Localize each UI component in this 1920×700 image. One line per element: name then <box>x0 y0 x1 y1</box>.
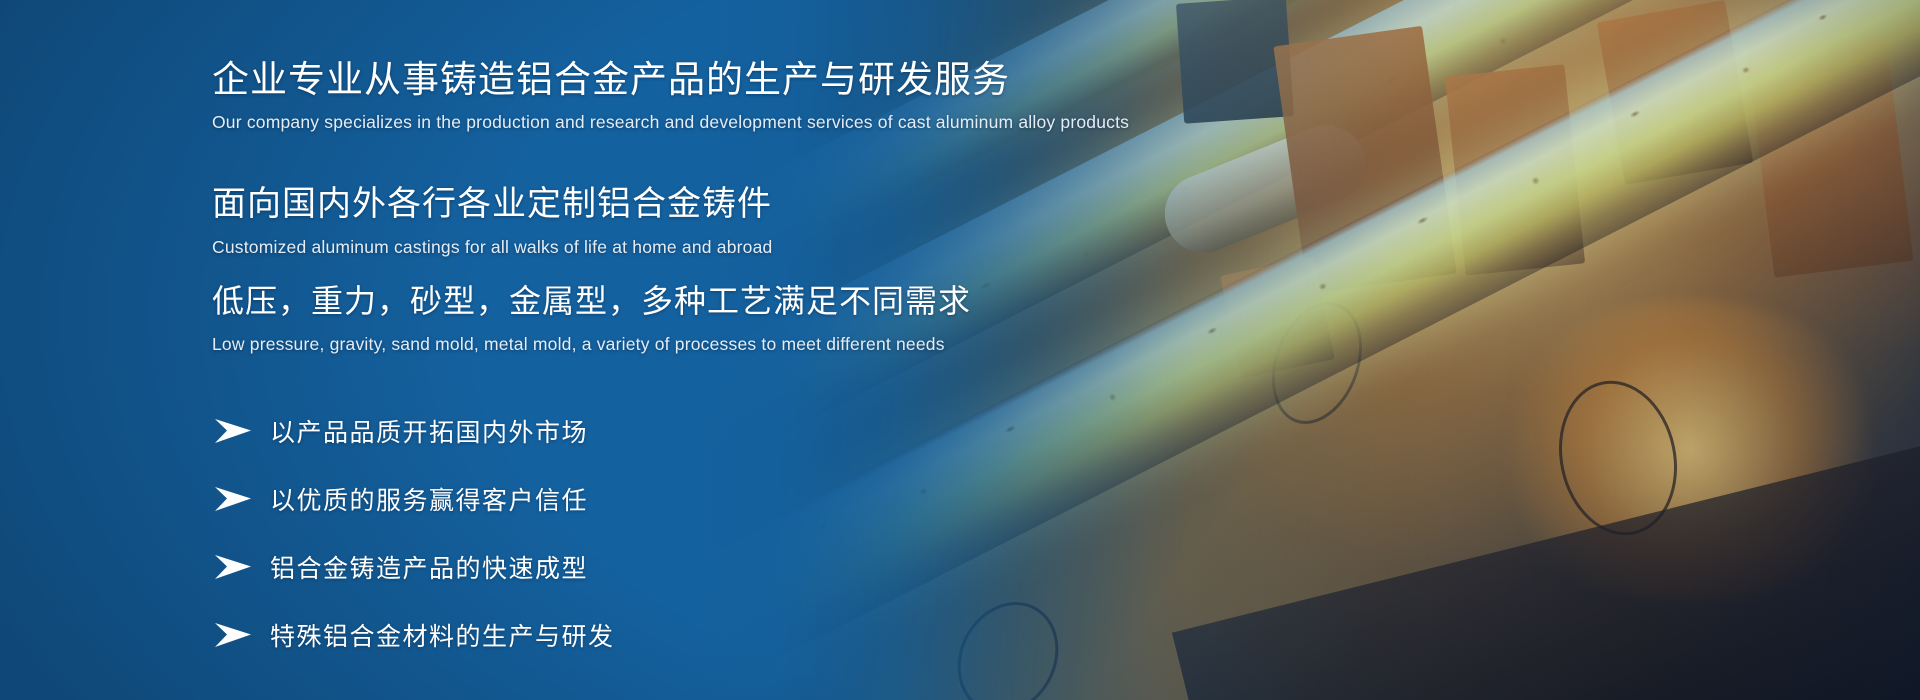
heading-secondary-cn: 面向国内外各行各业定制铝合金铸件 <box>212 133 1612 225</box>
list-item-label: 以产品品质开拓国内外市场 <box>270 413 588 449</box>
list-item-label: 特殊铝合金材料的生产与研发 <box>270 617 615 653</box>
arrow-right-icon <box>212 486 270 512</box>
banner-content: 企业专业从事铸造铝合金产品的生产与研发服务 Our company specia… <box>212 0 1612 700</box>
heading-tertiary-cn: 低压，重力，砂型，金属型，多种工艺满足不同需求 <box>212 258 1612 322</box>
heading-primary-en: Our company specializes in the productio… <box>212 103 1612 133</box>
arrow-right-icon <box>212 418 270 444</box>
list-item[interactable]: 以产品品质开拓国内外市场 <box>212 397 1612 465</box>
arrow-right-icon <box>212 622 270 648</box>
list-item[interactable]: 特殊铝合金材料的生产与研发 <box>212 601 1612 669</box>
list-item[interactable]: 铝合金铸造产品的快速成型 <box>212 533 1612 601</box>
list-item-label: 以优质的服务赢得客户信任 <box>270 481 588 517</box>
arrow-right-icon <box>212 554 270 580</box>
heading-secondary-en: Customized aluminum castings for all wal… <box>212 225 1612 258</box>
list-item[interactable]: 以优质的服务赢得客户信任 <box>212 465 1612 533</box>
heading-tertiary-en: Low pressure, gravity, sand mold, metal … <box>212 322 1612 355</box>
heading-primary-cn: 企业专业从事铸造铝合金产品的生产与研发服务 <box>212 0 1612 103</box>
hero-banner: 企业专业从事铸造铝合金产品的生产与研发服务 Our company specia… <box>0 0 1920 700</box>
feature-list: 以产品品质开拓国内外市场 以优质的服务赢得客户信任 铝合金铸造产品的快速成型 <box>212 355 1612 669</box>
list-item-label: 铝合金铸造产品的快速成型 <box>270 549 588 585</box>
